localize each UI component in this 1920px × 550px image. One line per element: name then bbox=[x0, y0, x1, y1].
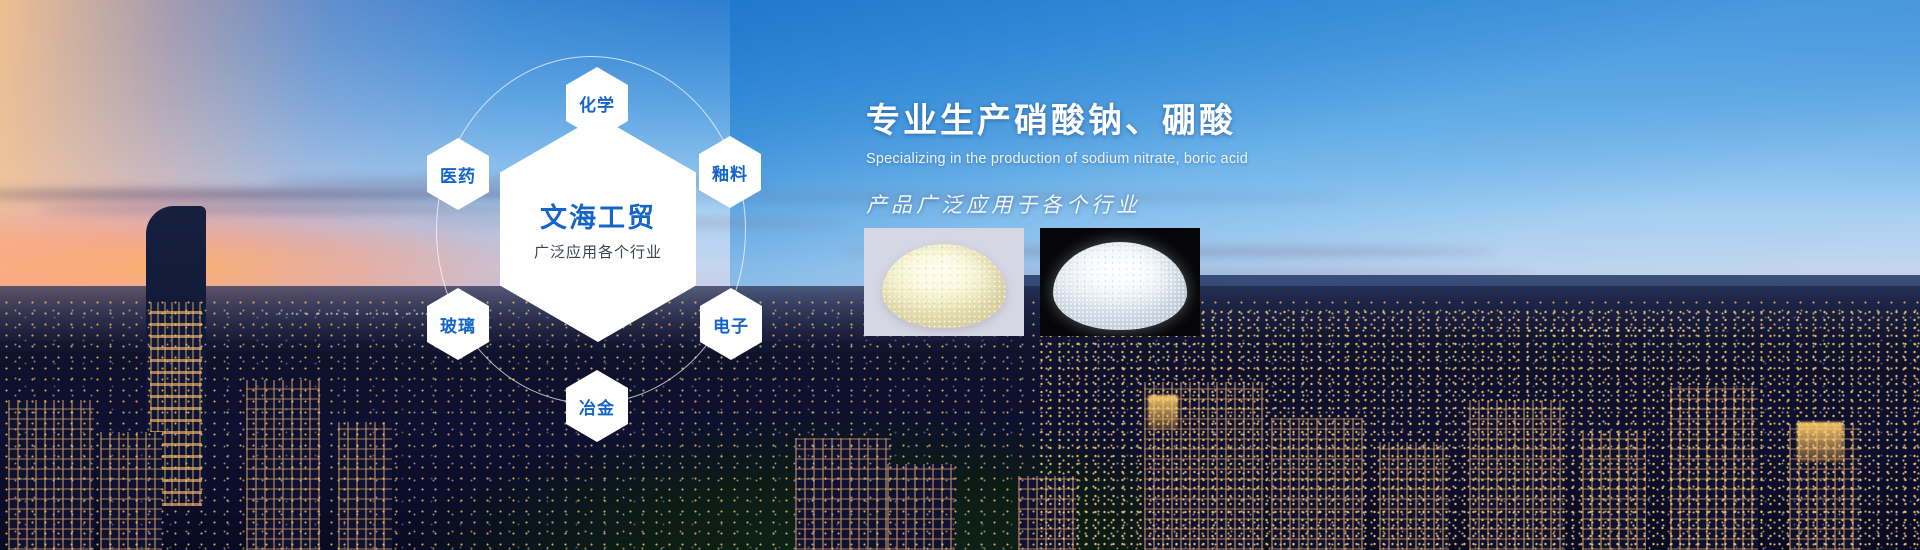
powder-pile bbox=[1053, 242, 1187, 330]
powder-pile bbox=[882, 244, 1006, 328]
lit-building-crown bbox=[1148, 395, 1178, 429]
hex-label-electronics: 电子 bbox=[713, 312, 749, 337]
hex-label-metallurgy: 冶金 bbox=[579, 394, 615, 419]
city-lights-dense bbox=[1037, 308, 1920, 550]
headline: 专业生产硝酸钠、硼酸 bbox=[866, 100, 1506, 143]
hex-label-glaze: 釉料 bbox=[712, 160, 748, 185]
lit-building-crown bbox=[1797, 422, 1843, 462]
company-tagline: 广泛应用各个行业 bbox=[534, 241, 662, 262]
product-photo-boric-acid[interactable] bbox=[1040, 228, 1200, 336]
hex-label-medicine: 医药 bbox=[440, 162, 476, 187]
tagline: 产品广泛应用于各个行业 bbox=[866, 189, 1506, 219]
subheadline-english: Specializing in the production of sodium… bbox=[866, 151, 1506, 167]
product-photo-sodium-nitrate[interactable] bbox=[864, 228, 1024, 336]
hex-label-glass: 玻璃 bbox=[440, 312, 476, 337]
company-name: 文海工贸 bbox=[540, 196, 656, 235]
bridge-lights bbox=[1359, 303, 1858, 337]
hex-label-chemistry: 化学 bbox=[579, 91, 615, 116]
industry-hex-diagram: 化学 釉料 医药 电子 玻璃 冶金 文海工贸 广泛应用各个行业 bbox=[418, 20, 778, 450]
headline-block: 专业生产硝酸钠、硼酸 Specializing in the productio… bbox=[866, 100, 1506, 219]
promo-banner: 化学 釉料 医药 电子 玻璃 冶金 文海工贸 广泛应用各个行业 专业生产硝酸钠、… bbox=[0, 0, 1920, 550]
product-photo-strip bbox=[864, 228, 1200, 336]
